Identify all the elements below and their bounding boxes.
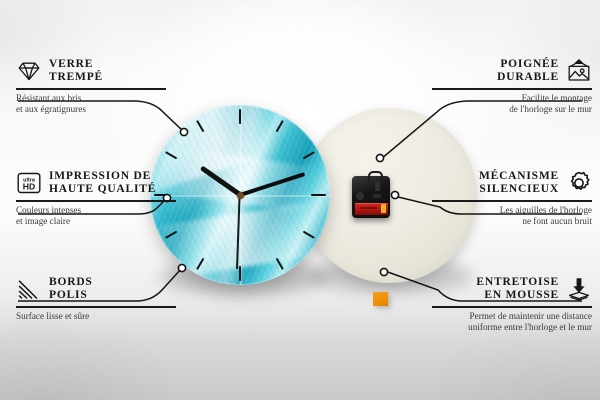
callout-divider — [16, 200, 176, 202]
callout-impression-haute-qualite[interactable]: ultra HD IMPRESSION DE HAUTE QUALITÉ Cou… — [16, 170, 176, 227]
battery-band — [361, 207, 377, 209]
arrow-down-layers-icon — [566, 276, 592, 302]
gear-icon — [566, 170, 592, 196]
mechanism-label-plate — [373, 194, 381, 198]
wall-clock-face — [150, 105, 330, 285]
hour-hand — [199, 165, 241, 197]
callout-title: ENTRETOISE EN MOUSSE — [476, 276, 559, 302]
callout-divider — [16, 306, 176, 308]
callout-title: BORDS POLIS — [49, 276, 93, 302]
callout-divider — [432, 200, 592, 202]
hands-center-cap — [237, 192, 244, 199]
mechanism-dial — [356, 192, 364, 200]
callout-bords-polis[interactable]: BORDS POLIS Surface lisse et sûre — [16, 276, 176, 322]
hour-marker-12 — [239, 109, 241, 195]
callout-mecanisme-silencieux[interactable]: MÉCANISME SILENCIEUX Les aiguilles de l'… — [432, 170, 592, 227]
polished-edges-icon — [16, 276, 42, 302]
infographic-canvas: VERRE TREMPÉ Résistant aux bris et aux é… — [0, 0, 600, 400]
callout-title: IMPRESSION DE HAUTE QUALITÉ — [49, 170, 156, 196]
callout-entretoise-en-mousse[interactable]: ENTRETOISE EN MOUSSE Permet de maintenir… — [432, 276, 592, 333]
callout-verre-trempe[interactable]: VERRE TREMPÉ Résistant aux bris et aux é… — [16, 58, 166, 115]
callout-divider — [16, 88, 166, 90]
battery — [355, 203, 388, 215]
battery-terminal — [381, 204, 386, 213]
callout-subtitle: Facilite le montage de l'horloge sur le … — [432, 93, 592, 115]
clock-mechanism — [352, 176, 390, 218]
callout-poignee-durable[interactable]: POIGNÉE DURABLE Facilite le montage de l… — [432, 58, 592, 115]
mechanism-switch — [356, 183, 362, 188]
callout-title: VERRE TREMPÉ — [49, 58, 103, 84]
mechanism-hook-icon — [368, 171, 383, 181]
hour-marker-3 — [240, 194, 326, 196]
callout-subtitle: Couleurs intenses et image claire — [16, 205, 176, 227]
callout-title: MÉCANISME SILENCIEUX — [479, 170, 559, 196]
svg-text:HD: HD — [23, 182, 35, 192]
ultra-hd-badge-icon: ultra HD — [16, 170, 42, 196]
callout-title: POIGNÉE DURABLE — [497, 58, 559, 84]
mechanism-port — [375, 182, 380, 191]
framed-picture-hanger-icon — [566, 58, 592, 84]
callout-subtitle: Permet de maintenir une distance uniform… — [432, 311, 592, 333]
diamond-icon — [16, 58, 42, 84]
foam-spacer — [373, 292, 388, 306]
callout-subtitle: Les aiguilles de l'horloge ne font aucun… — [432, 205, 592, 227]
callout-subtitle: Résistant aux bris et aux égratignures — [16, 93, 166, 115]
callout-divider — [432, 88, 592, 90]
callout-divider — [432, 306, 592, 308]
callout-subtitle: Surface lisse et sûre — [16, 311, 176, 322]
hour-marker-8 — [165, 194, 240, 239]
